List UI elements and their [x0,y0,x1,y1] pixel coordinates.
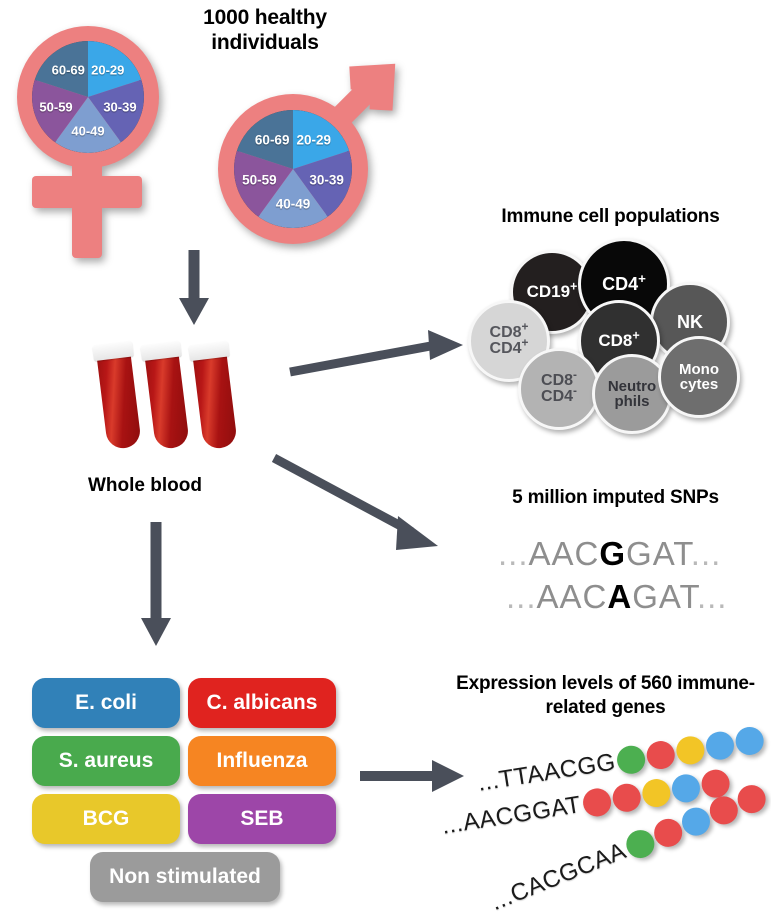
page-title: 1000 healthy individuals [170,6,360,56]
snp-left: AAC [537,578,608,615]
expression-bead [677,803,713,839]
female-gender-symbol: 20-2930-3940-4950-5960-69 [8,18,188,263]
expression-bead [670,772,702,804]
pie-slice-label: 30-39 [103,100,136,115]
snp-right: GAT [632,578,697,615]
expression-bead [675,734,707,766]
expression-section-title: Expression levels of 560 immune-related … [440,672,771,720]
expression-bead [615,744,647,776]
pie-slice-label: 40-49 [276,197,311,212]
expression-bead [734,725,766,757]
strand-sequence: ...AACGGAT [440,791,583,841]
expression-strands: ...TTAACGG ...AACGGAT ...CACGCAA [440,720,771,922]
immune-cell-label: CD8-CD4- [541,373,577,406]
stimulus-bcg[interactable]: BCG [32,794,180,844]
stimulus-s-aureus[interactable]: S. aureus [32,736,180,786]
pie-slice-label: 50-59 [242,172,277,187]
blood-tube-fill [144,351,189,450]
whole-blood-tubes [98,338,288,463]
blood-tube [143,341,190,450]
arrow-blood-to-snps [272,450,452,565]
snp-left: AAC [529,535,600,572]
blood-tube [191,341,238,450]
immune-cell-cd8neg-cd4neg: CD8-CD4- [518,348,600,430]
arrow-cohort-to-blood [176,250,212,333]
pie-slice-label: 60-69 [255,133,290,148]
snp-suffix: ... [691,535,722,572]
expression-bead [704,730,736,762]
pie-slice-label: 20-29 [297,133,332,148]
expression-bead [581,786,613,818]
arrow-blood-to-immune [288,330,468,385]
stimulus-c-albicans[interactable]: C. albicans [188,678,336,728]
stimulus-influenza[interactable]: Influenza [188,736,336,786]
immune-cell-monocytes: Monocytes [658,336,740,418]
immune-cell-label: CD8+ [598,332,639,349]
stimulus-label: E. coli [75,691,137,715]
snp-variant: A [607,578,632,615]
snp-sequence-row: ...AACAGAT... [506,578,727,616]
stimulus-label: BCG [83,807,130,831]
immune-cell-cluster: CD19+ CD4+ NK CD8+ CD8+CD4+ CD8-CD4- Neu… [460,238,760,428]
snp-section-title: 5 million imputed SNPs [460,487,771,509]
expression-bead [650,815,686,851]
figure-canvas: 1000 healthy individuals 20-2930-3940-49… [0,0,771,922]
whole-blood-label: Whole blood [88,475,202,497]
blood-tube-fill [192,351,237,450]
strand-sequence: ...CACGCAA [487,837,631,917]
pie-slice-label: 50-59 [39,100,72,115]
pie-slice-label: 40-49 [71,123,104,138]
female-age-pie-chart: 20-2930-3940-4950-5960-69 [32,41,144,153]
expression-bead [640,777,672,809]
snp-variant: G [599,535,626,572]
pie-slice-label: 30-39 [309,172,344,187]
expression-bead [610,782,642,814]
immune-cell-label: CD8+CD4+ [490,325,529,358]
expression-bead [645,739,677,771]
stimulus-seb[interactable]: SEB [188,794,336,844]
immune-cell-label: Monocytes [679,362,719,393]
stimulus-non-stimulated[interactable]: Non stimulated [90,852,280,902]
stimuli-panel: E. coli C. albicans S. aureus Influenza … [32,678,342,898]
pie-slice-label: 20-29 [91,62,124,77]
snp-right: GAT [626,535,691,572]
snp-prefix: ... [498,535,529,572]
stimulus-e-coli[interactable]: E. coli [32,678,180,728]
male-gender-symbol: 20-2930-3940-4950-5960-69 [198,52,418,252]
pie-slice-label: 60-69 [52,62,85,77]
female-symbol-crossbar [32,176,142,208]
blood-tube [95,341,142,450]
immune-section-title: Immune cell populations [450,206,771,228]
immune-cell-label: NK [677,313,703,331]
male-age-pie-chart: 20-2930-3940-4950-5960-69 [234,110,352,228]
stimulus-label: SEB [240,807,283,831]
stimulus-label: S. aureus [59,749,154,773]
immune-cell-label: CD4+ [602,275,646,293]
snp-sequence-row: ...AACGGAT... [498,535,721,573]
stimulus-label: Influenza [216,749,307,773]
stimulus-label: C. albicans [207,691,318,715]
snp-prefix: ... [506,578,537,615]
arrow-blood-to-stimuli [138,522,174,653]
immune-cell-label: CD19+ [527,283,578,300]
immune-cell-label: Neutrophils [608,379,656,410]
blood-tube-fill [96,351,141,450]
snp-suffix: ... [697,578,728,615]
stimulus-label: Non stimulated [109,865,261,889]
expression-bead [733,781,769,817]
